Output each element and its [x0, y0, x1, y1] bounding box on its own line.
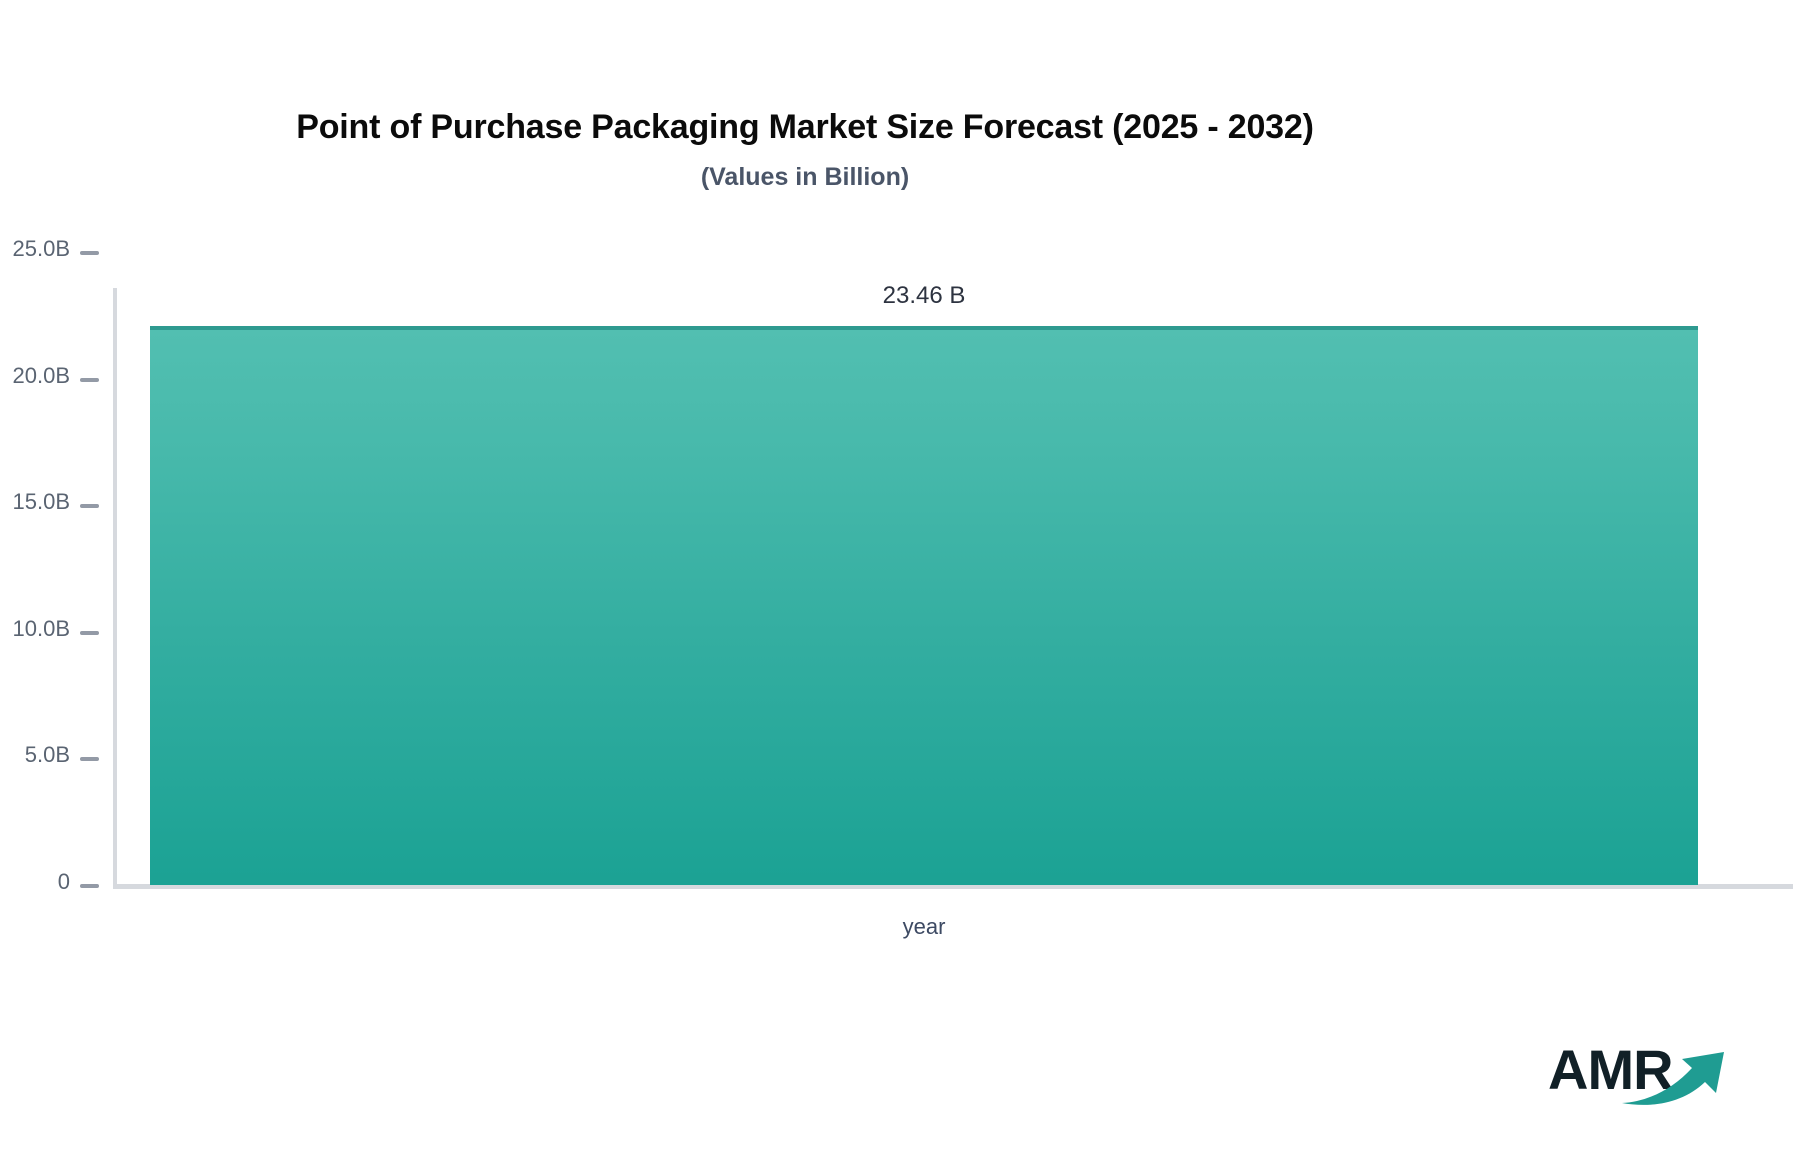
- y-axis-tick-mark: [80, 884, 99, 888]
- page-title: Point of Purchase Packaging Market Size …: [0, 108, 1610, 147]
- growth-arrow-icon: [1620, 1046, 1730, 1108]
- chart-subtitle: (Values in Billion): [0, 163, 1610, 192]
- bar-value-label: 23.46 B: [150, 284, 1698, 308]
- y-axis-tick-label: 25.0B: [13, 238, 71, 260]
- y-axis-tick-label: 5.0B: [25, 744, 70, 766]
- x-axis-label: year: [150, 916, 1698, 938]
- y-axis-tick-label: 0: [58, 871, 70, 893]
- y-axis-line: [113, 288, 117, 888]
- bar-year-2025-2032: [150, 326, 1698, 885]
- y-axis-tick-label: 15.0B: [13, 491, 71, 513]
- y-axis-tick-mark: [80, 378, 99, 382]
- y-axis-tick-label: 10.0B: [13, 618, 71, 640]
- y-axis-tick-mark: [80, 631, 99, 635]
- y-axis-tick-mark: [80, 504, 99, 508]
- amr-logo: AMR: [1548, 1032, 1728, 1118]
- y-axis-tick-mark: [80, 757, 99, 761]
- chart-header: Point of Purchase Packaging Market Size …: [0, 108, 1610, 192]
- y-axis-tick-mark: [80, 251, 99, 255]
- y-axis-tick-label: 20.0B: [13, 365, 71, 387]
- chart-canvas: Point of Purchase Packaging Market Size …: [0, 0, 1800, 1156]
